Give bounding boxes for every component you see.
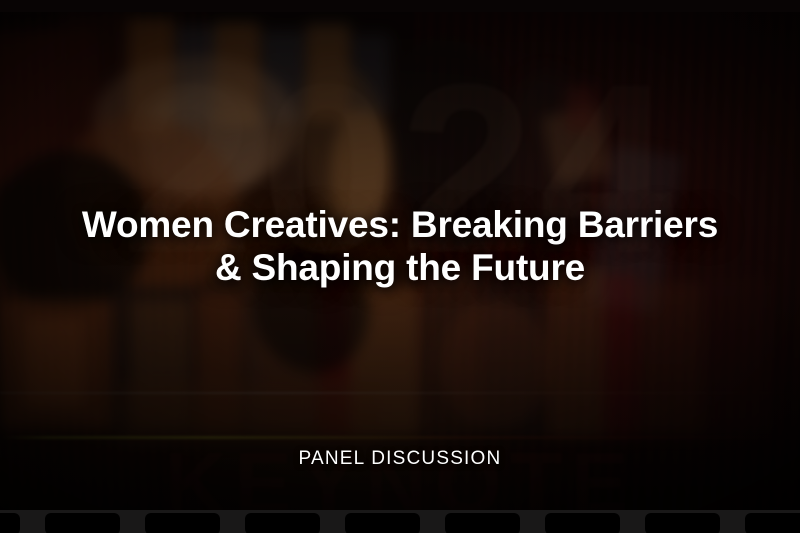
filmstrip-hole [745, 513, 800, 533]
slide-content: Women Creatives: Breaking Barriers & Sha… [0, 0, 800, 533]
filmstrip-hole [0, 513, 20, 533]
filmstrip-bottom [0, 510, 800, 533]
filmstrip-hole [345, 513, 420, 533]
filmstrip-hole [145, 513, 220, 533]
filmstrip-hole [245, 513, 320, 533]
page-title: Women Creatives: Breaking Barriers & Sha… [40, 204, 760, 290]
filmstrip-hole [545, 513, 620, 533]
event-title-card: 2024 KEYNOTE Women Creatives: Breaking B… [0, 0, 800, 533]
session-type-label: PANEL DISCUSSION [0, 448, 800, 470]
filmstrip-hole [45, 513, 120, 533]
filmstrip-hole [645, 513, 720, 533]
filmstrip-hole [445, 513, 520, 533]
